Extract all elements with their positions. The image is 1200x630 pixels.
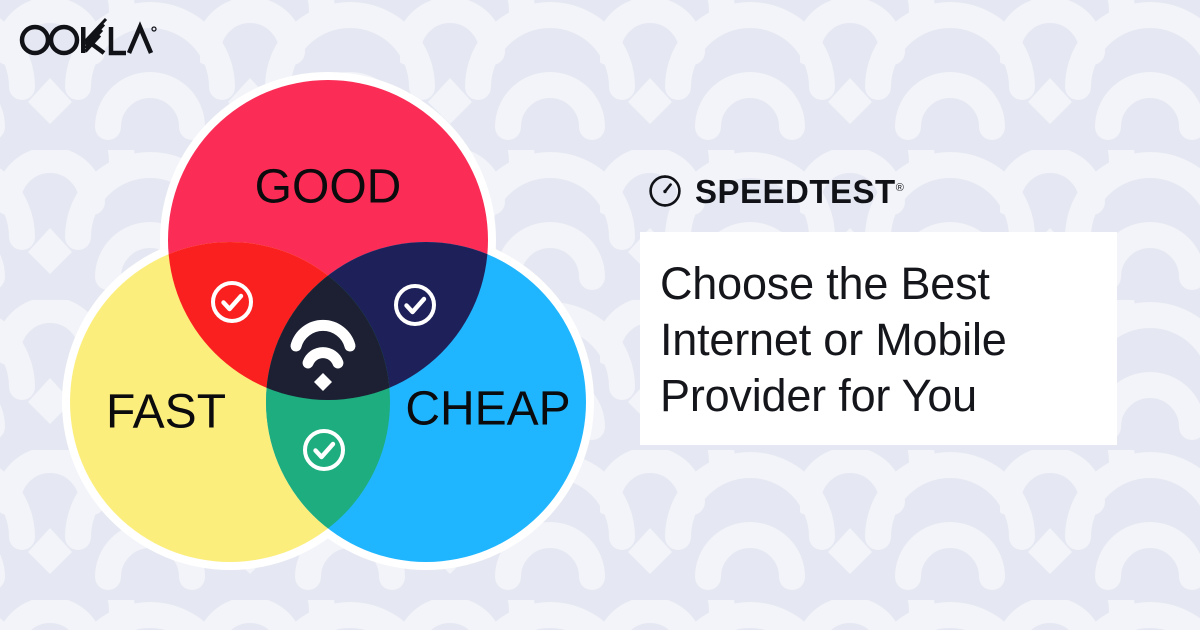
venn-diagram: GOOD FAST CHEAP: [48, 60, 608, 580]
page-title: Choose the Best Internet or Mobile Provi…: [660, 256, 1091, 424]
speedometer-icon: [648, 174, 682, 208]
venn-label-fast: FAST: [106, 386, 226, 439]
headline-card: Choose the Best Internet or Mobile Provi…: [640, 232, 1117, 445]
promo-graphic: GOOD FAST CHEAP: [0, 0, 1200, 630]
right-content-panel: SPEEDTEST® Choose the Best Internet or M…: [640, 168, 1120, 445]
venn-label-good: GOOD: [255, 161, 402, 214]
headline-line-1: Choose the Best: [660, 256, 1091, 312]
speedtest-logo-lockup: SPEEDTEST®: [648, 168, 1120, 214]
headline-line-3: Provider for You: [660, 368, 1091, 424]
ookla-logo: [18, 16, 158, 60]
speedtest-wordmark-text: SPEEDTEST: [695, 173, 896, 210]
registered-trademark-symbol: ®: [896, 182, 904, 194]
headline-line-2: Internet or Mobile: [660, 312, 1091, 368]
speedtest-wordmark: SPEEDTEST®: [695, 175, 904, 208]
venn-label-cheap: CHEAP: [405, 383, 570, 436]
